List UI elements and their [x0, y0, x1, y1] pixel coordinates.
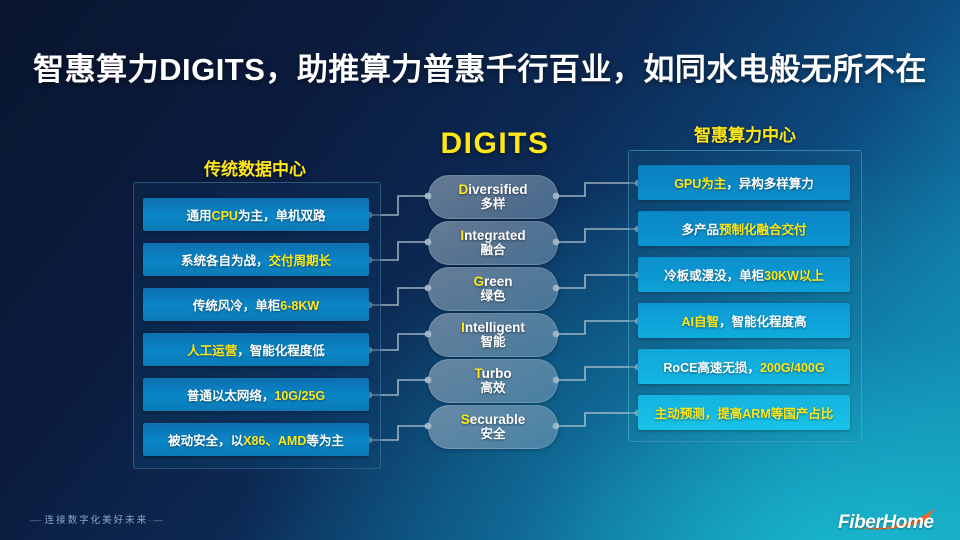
right-item-2-text: 冷板或漫没，单柜30KW以上	[664, 265, 824, 284]
digits-heading: DIGITS	[410, 127, 580, 161]
left-item-4[interactable]: 普通以太网络，10G/25G	[143, 378, 369, 411]
digits-node-3-en: Intelligent	[461, 321, 525, 335]
left-item-4-text: 普通以太网络，10G/25G	[187, 385, 325, 404]
right-item-5[interactable]: 主动预测，提高ARM等国产占比	[638, 395, 850, 430]
left-column-heading: 传统数据中心	[130, 155, 380, 180]
left-item-0-text: 通用CPU为主，单机双路	[187, 205, 326, 224]
left-item-0[interactable]: 通用CPU为主，单机双路	[143, 198, 369, 231]
slide-canvas: 智惠算力DIGITS，助推算力普惠千行百业，如同水电般无所不在	[0, 0, 960, 540]
right-item-4[interactable]: RoCE高速无损，200G/400G	[638, 349, 850, 384]
digits-node-2[interactable]: Green 绿色	[428, 267, 558, 311]
digits-node-1-en: Integrated	[460, 229, 525, 243]
digits-node-5[interactable]: Securable 安全	[428, 405, 558, 449]
digits-node-0-en: Diversified	[458, 183, 527, 197]
right-column-heading: 智惠算力中心	[630, 121, 860, 146]
digits-node-3[interactable]: Intelligent 智能	[428, 313, 558, 357]
left-item-3-text: 人工运营，智能化程度低	[187, 340, 325, 359]
right-item-0[interactable]: GPU为主，异构多样算力	[638, 165, 850, 200]
digits-node-2-en: Green	[473, 275, 512, 289]
right-item-3[interactable]: AI自智，智能化程度高	[638, 303, 850, 338]
footer-slogan: —·连接数字化美好未来·—	[30, 512, 163, 526]
left-item-5[interactable]: 被动安全，以X86、AMD等为主	[143, 423, 369, 456]
right-item-3-text: AI自智，智能化程度高	[681, 311, 806, 330]
digits-node-1[interactable]: Integrated 融合	[428, 221, 558, 265]
left-item-5-text: 被动安全，以X86、AMD等为主	[168, 430, 344, 449]
slogan-dash-right: —	[153, 515, 163, 526]
left-item-1-text: 系统各自为战，交付周期长	[181, 250, 331, 269]
digits-node-5-en: Securable	[461, 413, 526, 427]
right-item-2[interactable]: 冷板或漫没，单柜30KW以上	[638, 257, 850, 292]
right-item-0-text: GPU为主，异构多样算力	[674, 173, 814, 192]
left-item-1[interactable]: 系统各自为战，交付周期长	[143, 243, 369, 276]
left-item-2[interactable]: 传统风冷，单柜6-8KW	[143, 288, 369, 321]
right-item-1[interactable]: 多产品预制化融合交付	[638, 211, 850, 246]
right-item-5-text: 主动预测，提高ARM等国产占比	[655, 403, 833, 422]
digits-node-2-cn: 绿色	[480, 289, 505, 303]
digits-node-4-en: Turbo	[474, 367, 511, 381]
page-title: 智惠算力DIGITS，助推算力普惠千行百业，如同水电般无所不在	[0, 44, 960, 89]
left-item-2-text: 传统风冷，单柜6-8KW	[193, 295, 319, 314]
left-item-3[interactable]: 人工运营，智能化程度低	[143, 333, 369, 366]
slogan-dash-left: —	[30, 515, 40, 526]
right-item-4-text: RoCE高速无损，200G/400G	[663, 357, 824, 376]
digits-node-4-cn: 高效	[480, 381, 505, 395]
digits-node-0[interactable]: Diversified 多样	[428, 175, 558, 219]
digits-node-5-cn: 安全	[480, 427, 505, 441]
footer-slogan-text: 连接数字化美好未来	[45, 515, 149, 526]
digits-node-1-cn: 融合	[480, 243, 505, 257]
digits-node-3-cn: 智能	[480, 335, 505, 349]
digits-node-0-cn: 多样	[480, 197, 505, 211]
digits-node-4[interactable]: Turbo 高效	[428, 359, 558, 403]
fiberhome-logo: FiberHome	[838, 505, 942, 535]
right-item-1-text: 多产品预制化融合交付	[681, 219, 806, 238]
fiberhome-logo-text: FiberHome	[838, 512, 934, 534]
